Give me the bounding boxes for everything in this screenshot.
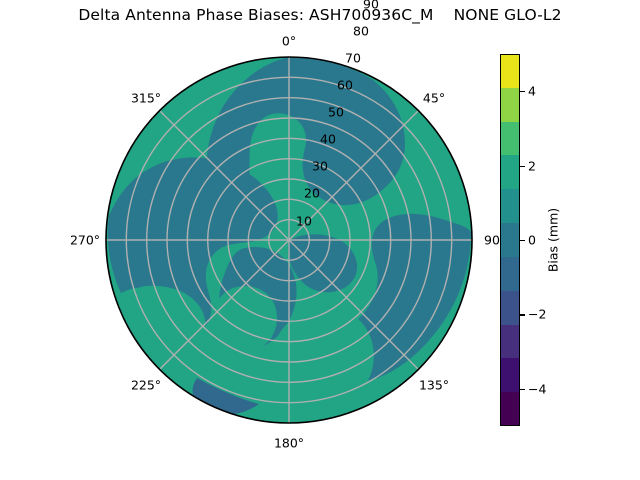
angular-tick-225: 225° — [131, 378, 161, 393]
radial-tick-20: 20 — [304, 186, 320, 201]
colorbar-tick-label-3: −2 — [528, 307, 546, 322]
page-title: Delta Antenna Phase Biases: ASH700936C_M… — [0, 6, 640, 24]
colorbar-tick-mark-0 — [520, 91, 525, 92]
colorbar — [500, 54, 520, 426]
angular-tick-0: 0° — [282, 34, 296, 49]
angular-tick-315: 315° — [131, 91, 161, 106]
radial-tick-90: 90 — [363, 0, 379, 12]
colorbar-band-9 — [500, 358, 520, 392]
colorbar-band-4 — [500, 189, 520, 223]
angular-tick-45: 45° — [423, 91, 445, 106]
radial-tick-40: 40 — [320, 132, 336, 147]
colorbar-tick-label-1: 2 — [528, 158, 536, 173]
angular-tick-180: 180° — [274, 436, 304, 451]
polar-axes — [105, 56, 473, 424]
contour-region-west-green-band — [107, 286, 206, 367]
colorbar-tick-mark-4 — [520, 389, 525, 390]
colorbar-axis-label: Bias (mm) — [546, 208, 561, 272]
polar-angular-grid — [106, 57, 472, 423]
radial-tick-30: 30 — [312, 159, 328, 174]
colorbar-band-3 — [500, 155, 520, 189]
angular-tick-135: 135° — [419, 378, 449, 393]
colorbar-tick-label-2: 0 — [528, 233, 536, 248]
colorbar-band-1 — [500, 88, 520, 122]
colorbar-tick-mark-2 — [520, 240, 525, 241]
polar-plot: 10 20 30 40 50 60 70 80 90 — [105, 56, 473, 424]
colorbar-tick-label-0: 4 — [528, 84, 536, 99]
radial-tick-50: 50 — [328, 105, 344, 120]
colorbar-tick-mark-1 — [520, 166, 525, 167]
radial-tick-60: 60 — [337, 78, 353, 93]
colorbar-band-8 — [500, 325, 520, 359]
colorbar-tick-mark-3 — [520, 314, 525, 315]
figure-canvas: Delta Antenna Phase Biases: ASH700936C_M… — [0, 0, 640, 480]
colorbar-tick-label-4: −4 — [528, 381, 546, 396]
colorbar-band-6 — [500, 257, 520, 291]
angular-tick-90: 90 — [484, 233, 500, 248]
angular-tick-270: 270° — [70, 233, 100, 248]
colorbar-band-7 — [500, 291, 520, 325]
radial-tick-80: 80 — [353, 24, 369, 39]
colorbar-band-2 — [500, 122, 520, 156]
colorbar-bands — [500, 54, 520, 426]
colorbar-band-10 — [500, 392, 520, 426]
radial-tick-10: 10 — [296, 214, 312, 229]
radial-tick-70: 70 — [345, 51, 361, 66]
colorbar-band-0 — [500, 54, 520, 88]
colorbar-band-5 — [500, 223, 520, 257]
